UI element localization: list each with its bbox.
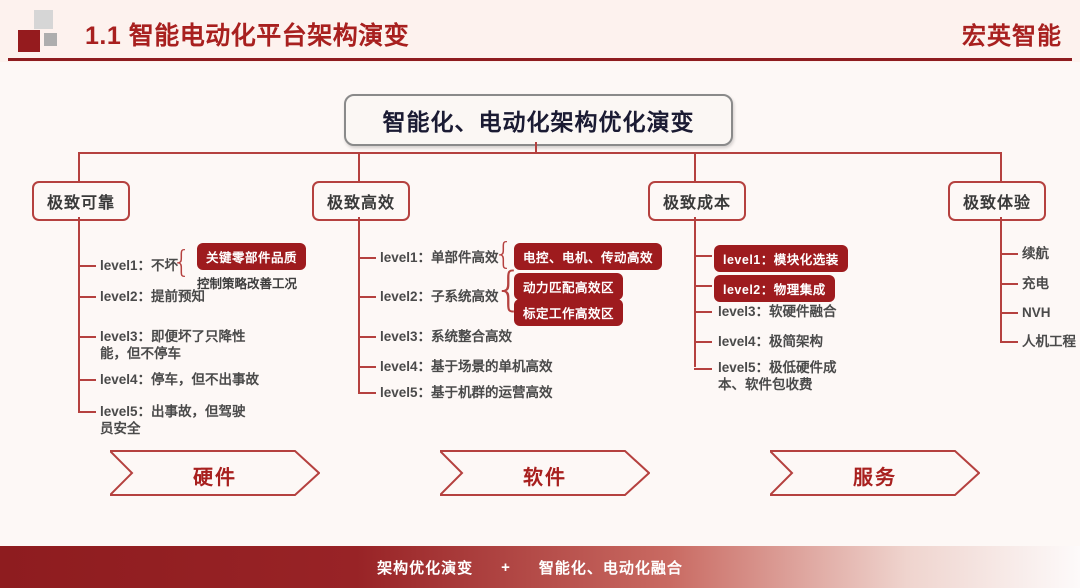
connector-drop-4 (1000, 152, 1002, 182)
tick-c2-1 (358, 257, 376, 259)
list-item: 充电 (1022, 275, 1049, 292)
tick-c2-3 (358, 336, 376, 338)
connector-drop-1 (78, 152, 80, 182)
tick-c4-1 (1000, 253, 1018, 255)
list-item: level1：不坏 (100, 257, 178, 274)
tick-c1-5 (78, 411, 96, 413)
logo-square-gray-small-icon (44, 33, 57, 46)
list-item: level5：极低硬件成本、软件包收费 (718, 359, 843, 393)
connector-drop-2 (358, 152, 360, 182)
footer-left-text: 架构优化演变 (377, 557, 473, 578)
list-item: level3：软硬件融合 (718, 303, 837, 320)
list-item-badge: level1：模块化选装 (714, 245, 848, 272)
category-label-3: 极致成本 (663, 189, 731, 213)
arrow-label-hardware: 硬件 (110, 461, 320, 490)
category-box-2[interactable]: 极致高效 (312, 181, 410, 221)
annotation-badge: 关键零部件品质 (197, 243, 306, 270)
list-item: level5：基于机群的运营高效 (380, 384, 553, 401)
connector-drop-3 (694, 152, 696, 182)
tick-c2-4 (358, 366, 376, 368)
footer-right-text: 智能化、电动化融合 (539, 557, 683, 578)
category-box-3[interactable]: 极致成本 (648, 181, 746, 221)
list-item: level2：提前预知 (100, 288, 205, 305)
list-item-badge: level2：物理集成 (714, 275, 835, 302)
tick-c4-3 (1000, 312, 1018, 314)
category-label-1: 极致可靠 (47, 189, 115, 213)
list-item: 人机工程 (1022, 333, 1076, 350)
tick-c1-3 (78, 336, 96, 338)
slide-root: 1.1 智能电动化平台架构演变 宏英智能 智能化、电动化架构优化演变 极致可靠 … (0, 0, 1080, 588)
tick-c4-2 (1000, 283, 1018, 285)
logo-mark-icon (14, 10, 64, 52)
slide-footer: 架构优化演变 + 智能化、电动化融合 (0, 546, 1080, 588)
tick-c3-2 (694, 285, 712, 287)
annotation-badge: 动力匹配高效区 (514, 273, 623, 300)
tick-c3-3 (694, 311, 712, 313)
logo-square-gray-top-icon (34, 10, 53, 29)
list-item: level2：子系统高效 (380, 288, 499, 305)
category-box-1[interactable]: 极致可靠 (32, 181, 130, 221)
annotation-badge: 标定工作高效区 (514, 299, 623, 326)
category-label-2: 极致高效 (327, 189, 395, 213)
footer-plus-sign: + (501, 559, 511, 576)
category-box-4[interactable]: 极致体验 (948, 181, 1046, 221)
tick-c1-2 (78, 296, 96, 298)
logo-square-red-icon (18, 30, 40, 52)
tick-c1-1 (78, 265, 96, 267)
header-divider (8, 58, 1072, 61)
connector-col4-spine (1000, 217, 1002, 342)
list-item: level4：停车，但不出事故 (100, 371, 259, 388)
connector-horizontal-bus (78, 152, 1000, 154)
tick-c1-4 (78, 379, 96, 381)
list-item: level4：基于场景的单机高效 (380, 358, 553, 375)
tick-c4-4 (1000, 341, 1018, 343)
diagram-title-text: 智能化、电动化架构优化演变 (383, 103, 695, 137)
annotation-plain: 控制策略改善工况 (197, 273, 297, 292)
list-item: level1：单部件高效 (380, 249, 499, 266)
brand-logo-text: 宏英智能 (962, 16, 1062, 51)
brace-c1-level1: { (172, 248, 191, 278)
arrow-label-service: 服务 (770, 461, 980, 490)
arrow-label-software: 软件 (440, 461, 650, 490)
connector-col3-spine (694, 217, 696, 367)
list-item: level3：系统整合高效 (380, 328, 512, 345)
tick-c3-5 (694, 368, 712, 370)
slide-header: 1.1 智能电动化平台架构演变 宏英智能 (0, 0, 1080, 62)
list-item: level4：极简架构 (718, 333, 823, 350)
connector-col1-spine (78, 217, 80, 412)
diagram-title-box: 智能化、电动化架构优化演变 (344, 94, 733, 146)
tick-c2-2 (358, 296, 376, 298)
tick-c3-4 (694, 341, 712, 343)
category-label-4: 极致体验 (963, 189, 1031, 213)
list-item: NVH (1022, 304, 1051, 321)
list-item: level3：即便坏了只降性能，但不停车 (100, 328, 248, 362)
list-item: level5：出事故，但驾驶员安全 (100, 403, 248, 437)
tick-c2-5 (358, 392, 376, 394)
annotation-badge: 电控、电机、传动高效 (514, 243, 662, 270)
tick-c3-1 (694, 255, 712, 257)
list-item: 续航 (1022, 245, 1049, 262)
page-title: 1.1 智能电动化平台架构演变 (85, 16, 409, 52)
